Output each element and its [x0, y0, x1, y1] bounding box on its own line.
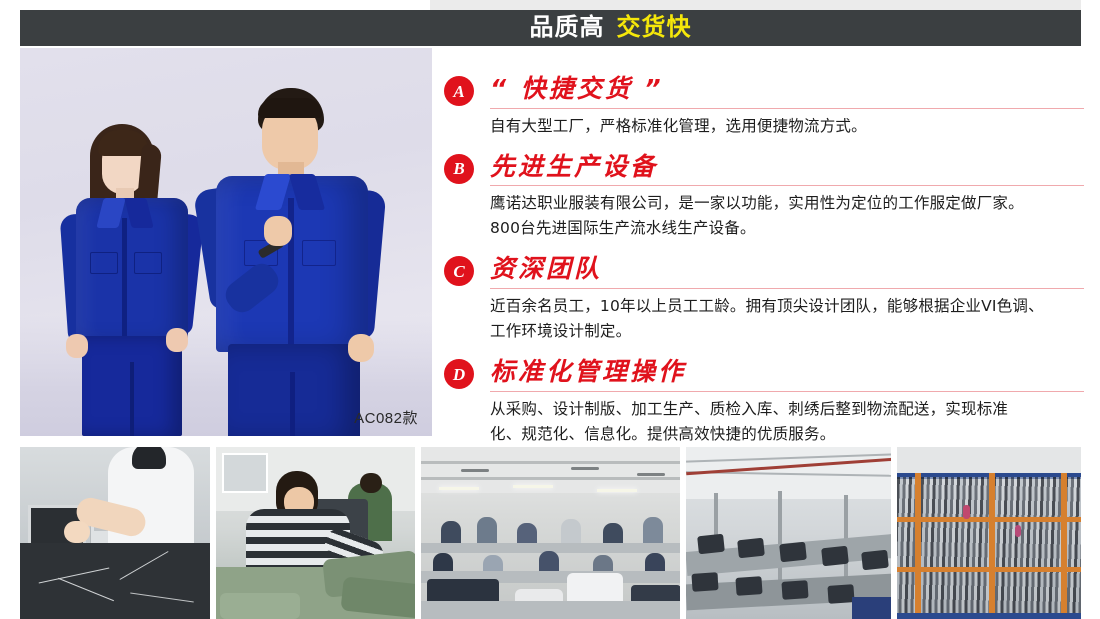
- feature-body-line: 自有大型工厂，严格标准化管理，选用便捷物流方式。: [490, 114, 1084, 139]
- thumb-conveyor-line: [686, 447, 892, 619]
- product-feature-page: 品质高 交货快: [0, 0, 1100, 619]
- feature-title-c: 资深团队: [490, 254, 1084, 286]
- feature-body-a: 自有大型工厂，严格标准化管理，选用便捷物流方式。: [490, 114, 1084, 139]
- female-model: [62, 122, 214, 436]
- feature-body-line: 鹰诺达职业服装有限公司，是一家以功能，实用性为定位的工作服定做厂家。: [490, 191, 1084, 216]
- feature-badge-c: C: [444, 256, 474, 286]
- feature-item-b: B 先进生产设备 鹰诺达职业服装有限公司，是一家以功能，实用性为定位的工作服定做…: [444, 152, 1084, 242]
- factory-photo-strip: [20, 447, 1081, 619]
- feature-badge-a: A: [444, 76, 474, 106]
- feature-body-line: 工作环境设计制定。: [490, 319, 1084, 344]
- banner-title-accent: 交货快: [617, 16, 692, 40]
- feature-list: A “ 快捷交货 ” 自有大型工厂，严格标准化管理，选用便捷物流方式。 B 先进…: [444, 74, 1084, 436]
- hero-product-photo: AC082款: [20, 48, 432, 436]
- feature-divider-a: [490, 108, 1084, 109]
- feature-body-line: 从采购、设计制版、加工生产、质检入库、刺绣后整到物流配送，实现标准: [490, 397, 1084, 422]
- header-banner-inner: 品质高 交货快: [530, 16, 692, 40]
- thumb-sewing-station: [216, 447, 416, 619]
- feature-badge-d: D: [444, 359, 474, 389]
- thumb-cutting-station: [20, 447, 210, 619]
- feature-badge-b: B: [444, 154, 474, 184]
- feature-body-d: 从采购、设计制版、加工生产、质检入库、刺绣后整到物流配送，实现标准 化、规范化、…: [490, 397, 1084, 447]
- header-banner: 品质高 交货快: [20, 10, 1081, 46]
- feature-body-line: 近百余名员工，10年以上员工工龄。拥有顶尖设计团队，能够根据企业VI色调、: [490, 294, 1084, 319]
- thumb-warehouse-racks: [897, 447, 1081, 619]
- feature-title-d: 标准化管理操作: [490, 357, 1084, 389]
- feature-item-d: D 标准化管理操作 从采购、设计制版、加工生产、质检入库、刺绣后整到物流配送，实…: [444, 357, 1084, 447]
- feature-item-c: C 资深团队 近百余名员工，10年以上员工工龄。拥有顶尖设计团队，能够根据企业V…: [444, 254, 1084, 344]
- feature-divider-b: [490, 185, 1084, 186]
- feature-body-line: 800台先进国际生产流水线生产设备。: [490, 216, 1084, 241]
- product-code-label: AC082款: [354, 407, 418, 428]
- feature-divider-d: [490, 391, 1084, 392]
- thumb-production-floor: [421, 447, 679, 619]
- banner-title-primary: 品质高: [530, 16, 605, 40]
- feature-item-a: A “ 快捷交货 ” 自有大型工厂，严格标准化管理，选用便捷物流方式。: [444, 74, 1084, 139]
- feature-title-a: “ 快捷交货 ”: [490, 74, 1084, 106]
- feature-body-c: 近百余名员工，10年以上员工工龄。拥有顶尖设计团队，能够根据企业VI色调、 工作…: [490, 294, 1084, 344]
- feature-body-line: 化、规范化、信息化。提供高效快捷的优质服务。: [490, 422, 1084, 447]
- feature-divider-c: [490, 288, 1084, 289]
- feature-body-b: 鹰诺达职业服装有限公司，是一家以功能，实用性为定位的工作服定做厂家。 800台先…: [490, 191, 1084, 241]
- feature-title-b: 先进生产设备: [490, 152, 1084, 184]
- male-model: [202, 88, 402, 436]
